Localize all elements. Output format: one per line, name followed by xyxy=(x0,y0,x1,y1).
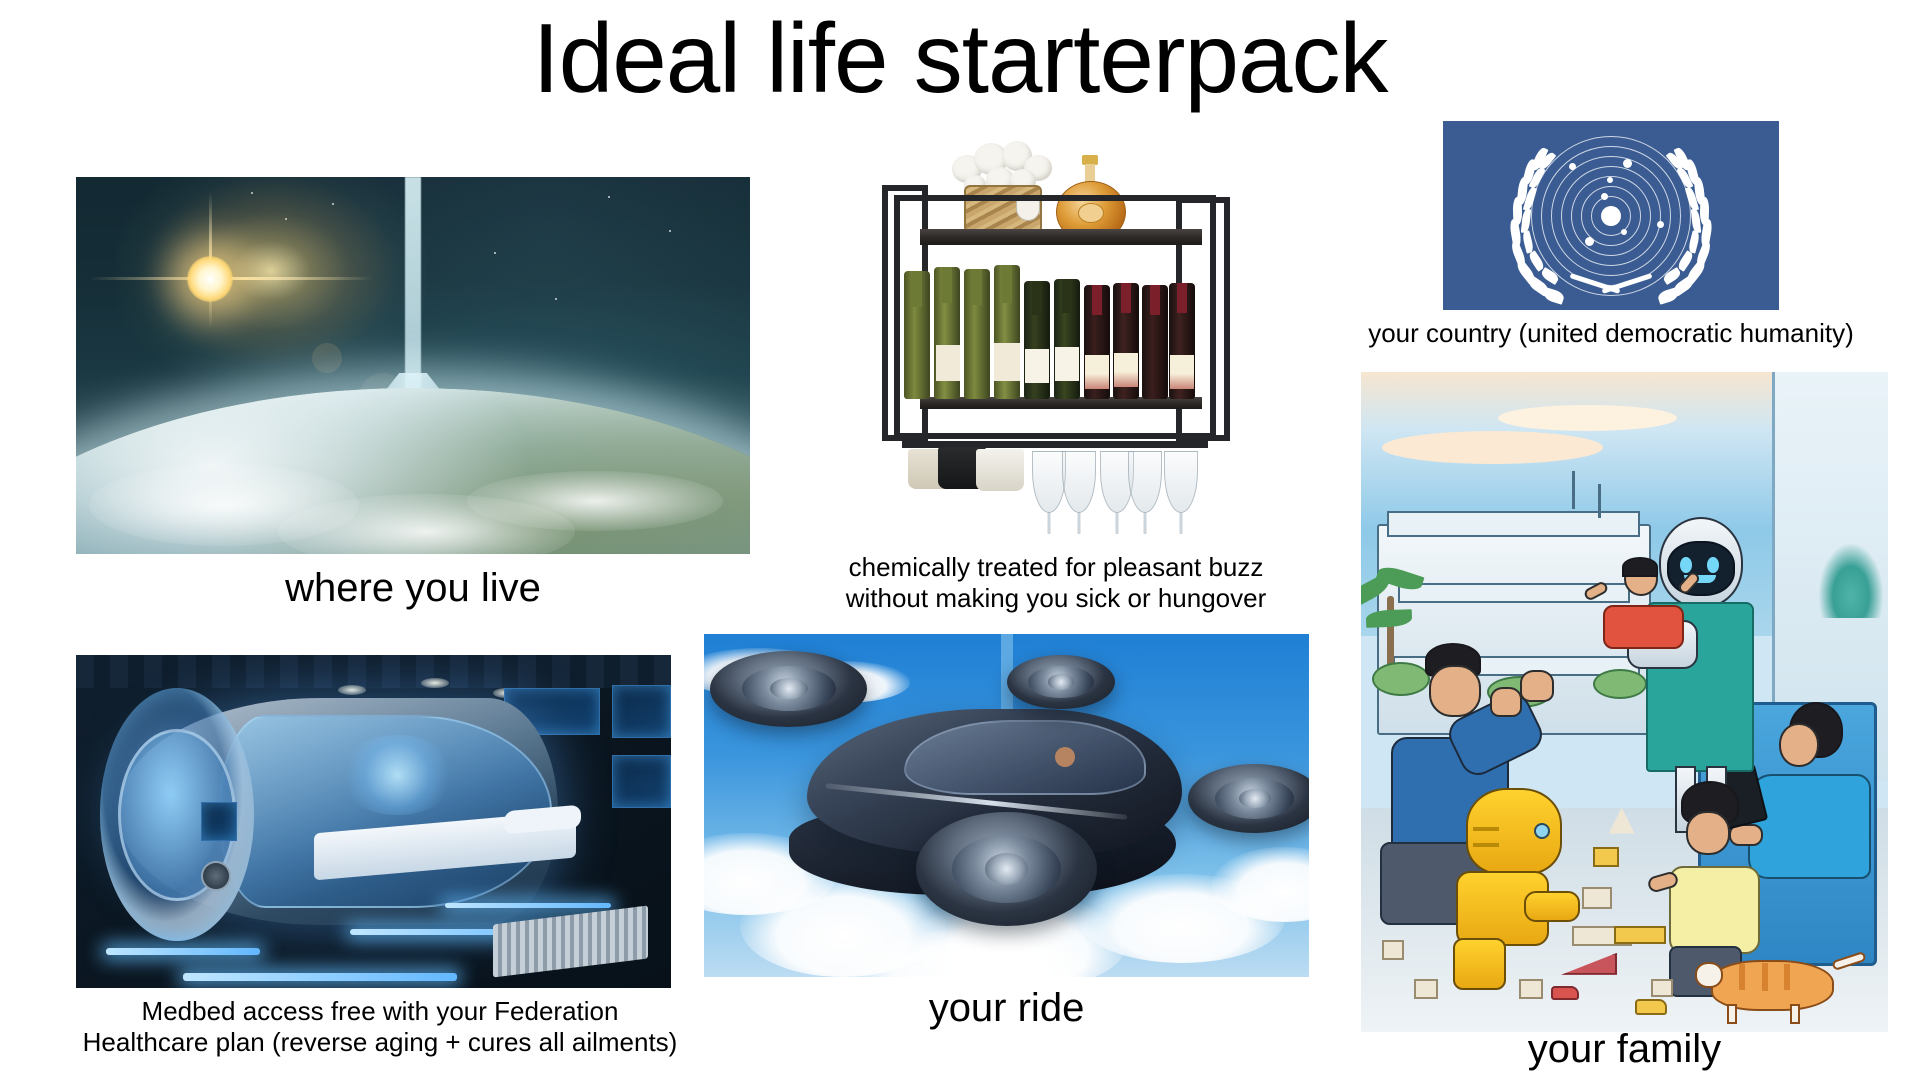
toy-block[interactable] xyxy=(1651,979,1673,997)
wine-bottle xyxy=(1142,285,1168,399)
potted-palm xyxy=(1819,544,1883,618)
led-strip xyxy=(106,948,261,955)
father-hand xyxy=(1490,687,1522,717)
hanging-mug-white xyxy=(976,449,1024,491)
toy-block[interactable] xyxy=(1519,979,1543,999)
caption-medbed: Medbed access free with your Federation … xyxy=(60,996,700,1057)
caption-your-country: your country (united democratic humanity… xyxy=(1330,318,1892,349)
toy-block[interactable] xyxy=(1614,926,1666,944)
ceiling-panels xyxy=(76,655,671,688)
caption-your-family: your family xyxy=(1361,1026,1888,1073)
caption-drinks: chemically treated for pleasant buzz wit… xyxy=(816,552,1296,613)
cat-leg xyxy=(1727,1004,1737,1024)
rotor-front-left xyxy=(710,651,867,726)
medpod-valve-wheel[interactable] xyxy=(201,861,231,891)
robot-arm xyxy=(1524,891,1580,923)
bottle-label xyxy=(936,345,960,381)
planet-marker xyxy=(1601,193,1608,200)
image-flying-car xyxy=(704,634,1309,977)
planet-marker xyxy=(1621,229,1627,235)
bottle-label xyxy=(1025,349,1049,383)
rotor-rear-left xyxy=(916,812,1098,925)
image-federation-flag xyxy=(1443,121,1779,310)
bottle-label xyxy=(1055,347,1079,381)
toy-robot-yellow xyxy=(1451,788,1577,986)
rotor-rear-right xyxy=(1188,764,1309,833)
bottle-label xyxy=(1170,355,1194,389)
lens-flare-small xyxy=(312,343,342,373)
hanging-wine-glass xyxy=(1032,451,1066,513)
hanging-wine-glass xyxy=(1062,451,1096,513)
caption-your-ride: your ride xyxy=(704,985,1309,1032)
car-pilot xyxy=(1055,747,1075,767)
toy-block[interactable] xyxy=(1593,847,1619,867)
cat-head xyxy=(1695,962,1723,988)
wine-bottle xyxy=(904,271,930,399)
cloud-band xyxy=(467,471,723,531)
led-strip xyxy=(183,973,457,981)
caption-where-you-live: where you live xyxy=(76,565,750,612)
image-medbed xyxy=(76,655,671,988)
bottle-label xyxy=(1114,353,1138,387)
toy-block[interactable] xyxy=(1414,979,1438,999)
wall-monitor xyxy=(612,755,672,808)
image-wine-rack xyxy=(876,133,1236,545)
bottle-label xyxy=(1085,355,1109,389)
sun-emblem-center xyxy=(1601,206,1621,226)
wine-bottle xyxy=(964,269,990,399)
planet-marker xyxy=(1585,237,1594,246)
sun-glow xyxy=(116,177,426,388)
led-strip xyxy=(445,903,612,908)
toy-bus-red[interactable] xyxy=(1551,986,1579,1000)
planet-marker xyxy=(1607,177,1613,183)
toy-block[interactable] xyxy=(1382,940,1404,960)
bottle-label xyxy=(994,343,1020,381)
medpod-control-panel[interactable] xyxy=(201,802,237,842)
planet-marker xyxy=(1623,159,1632,168)
page-title: Ideal life starterpack xyxy=(0,5,1920,113)
image-your-family xyxy=(1361,372,1888,1032)
olive-wreath-left xyxy=(1507,147,1573,307)
robot-leg xyxy=(1453,938,1506,989)
villa-antenna xyxy=(1598,484,1601,518)
olive-wreath-right xyxy=(1649,147,1715,307)
toy-car-yellow[interactable] xyxy=(1635,999,1667,1015)
meme-canvas: Ideal life starterpack where you live xyxy=(0,0,1920,1080)
hanging-wine-glass xyxy=(1128,451,1162,513)
toy-block[interactable] xyxy=(1582,887,1612,909)
rack-top-shelf xyxy=(920,229,1202,245)
image-where-you-live xyxy=(76,177,750,554)
villa-roof-slab xyxy=(1387,511,1640,537)
villa-antenna xyxy=(1572,471,1575,509)
baby xyxy=(1593,557,1698,649)
cat-leg xyxy=(1790,1004,1800,1024)
wall-monitor xyxy=(612,685,672,738)
father-hand xyxy=(1520,670,1554,702)
wine-bottle xyxy=(1054,279,1080,399)
cat xyxy=(1698,953,1856,1026)
ceiling-light xyxy=(338,685,366,695)
rotor-front-right xyxy=(1007,655,1116,710)
hanging-wine-glass xyxy=(1164,451,1198,513)
holographic-scan xyxy=(338,735,457,815)
